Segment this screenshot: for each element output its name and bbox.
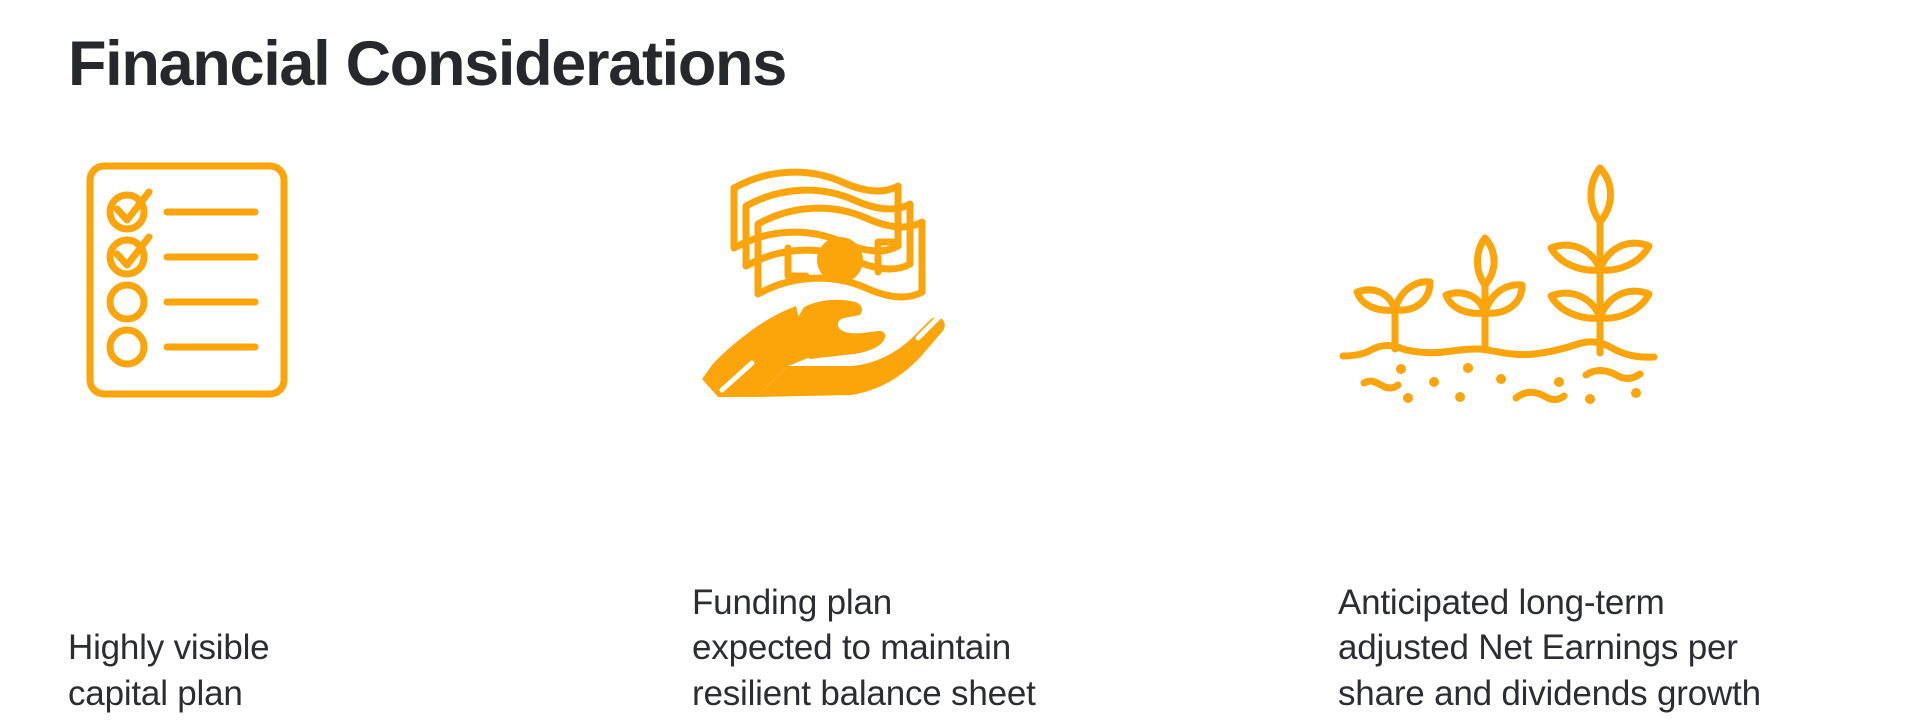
slide-financial-considerations: Financial Considerations: [0, 0, 1920, 720]
column-caption: Funding plan expected to maintain resili…: [692, 580, 1036, 717]
column-earnings-growth: Anticipated long-term adjusted Net Earni…: [1338, 0, 1918, 720]
checklist-icon: [70, 160, 292, 400]
column-caption: Highly visible capital plan: [68, 625, 269, 716]
column-funding-plan: Funding plan expected to maintain resili…: [692, 0, 1252, 720]
columns-container: Highly visible capital plan: [0, 0, 1920, 720]
growing-plants-icon: [1338, 160, 1668, 400]
money-in-hand-icon: [692, 160, 962, 400]
column-caption: Anticipated long-term adjusted Net Earni…: [1338, 580, 1761, 717]
column-capital-plan: Highly visible capital plan: [68, 0, 628, 720]
